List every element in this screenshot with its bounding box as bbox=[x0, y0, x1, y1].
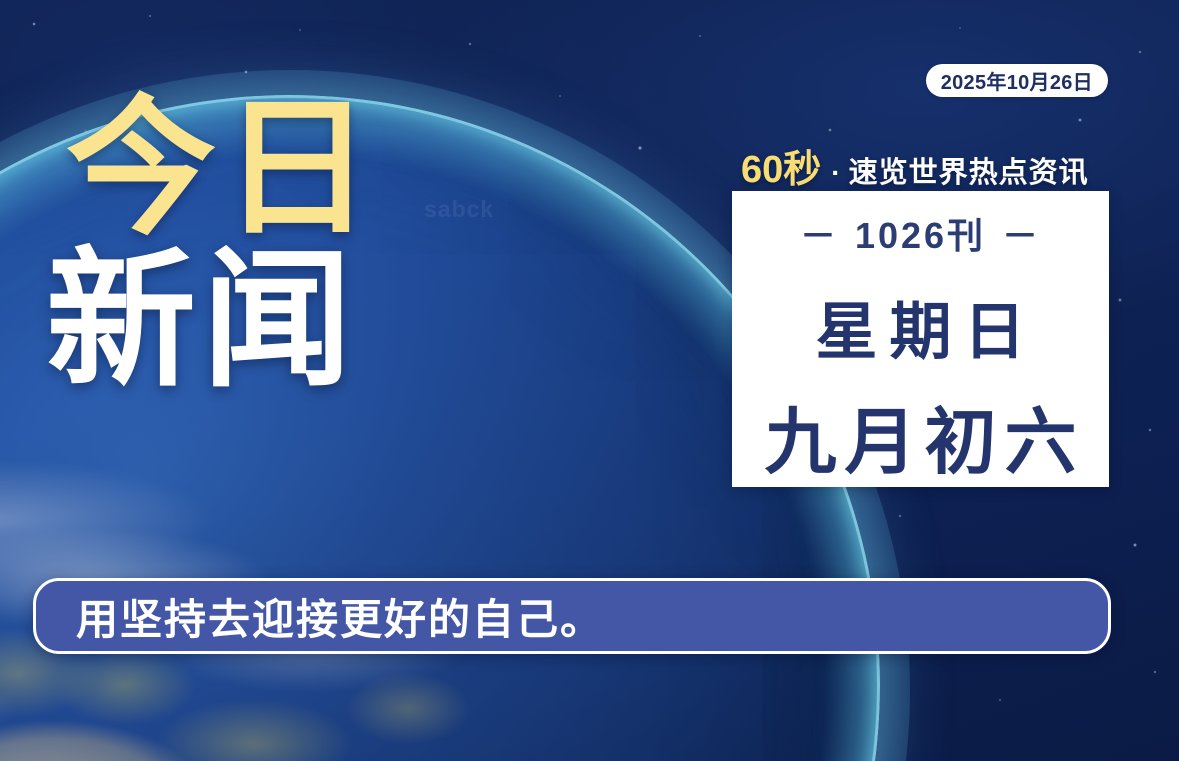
tagline-separator-dot: · bbox=[831, 157, 840, 189]
weekday-label: 星期日 bbox=[803, 281, 1037, 371]
poster-canvas: sabck 今日 新闻 2025年10月26日 60秒 · 速览世界热点资讯 －… bbox=[0, 0, 1179, 761]
tagline-description: 速览世界热点资讯 bbox=[849, 149, 1089, 191]
quote-banner: 用坚持去迎接更好的自己。 bbox=[33, 578, 1111, 654]
headline-line-news: 新闻 bbox=[46, 248, 378, 392]
page-title: 今日 新闻 bbox=[66, 96, 378, 392]
issue-dash-left-icon: － bbox=[800, 207, 839, 259]
tagline: 60秒 · 速览世界热点资讯 bbox=[741, 138, 1089, 193]
issue-info-card: － 1026刊 － 星期日 九月初六 bbox=[732, 191, 1109, 487]
background-watermark: sabck bbox=[424, 196, 494, 223]
date-badge: 2025年10月26日 bbox=[926, 64, 1108, 97]
headline-line-today: 今日 bbox=[66, 96, 378, 240]
issue-number: 1026刊 bbox=[855, 207, 986, 259]
quote-text: 用坚持去迎接更好的自己。 bbox=[36, 586, 604, 647]
tagline-seconds: 60秒 bbox=[741, 138, 821, 193]
issue-number-row: － 1026刊 － bbox=[800, 207, 1041, 259]
lunar-date-label: 九月初六 bbox=[756, 383, 1084, 488]
issue-dash-right-icon: － bbox=[1002, 207, 1041, 259]
